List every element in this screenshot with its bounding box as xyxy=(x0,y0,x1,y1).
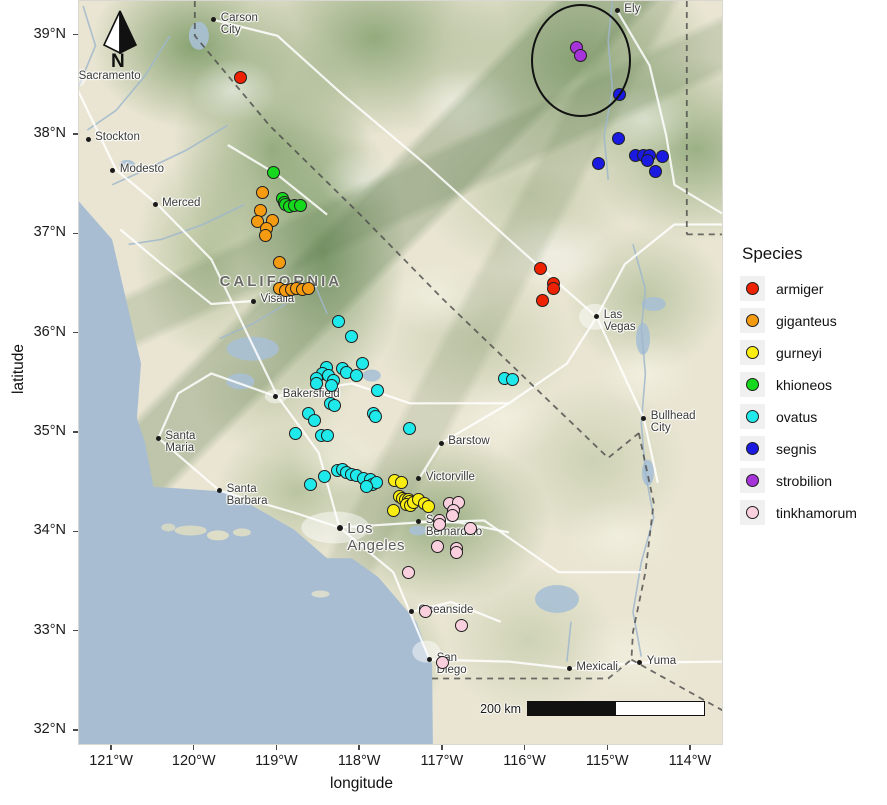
y-axis-tick-label: 39°N xyxy=(2,26,66,42)
scale-bar-segments xyxy=(527,701,705,716)
x-axis-tick-label: 117°W xyxy=(410,753,474,769)
city-name-text: Yuma xyxy=(647,655,676,667)
x-axis-tick-mark xyxy=(441,745,442,750)
legend-item-gurneyi[interactable]: gurneyi xyxy=(740,340,887,365)
city-marker-dot xyxy=(567,666,572,671)
occurrence-point-giganteus[interactable] xyxy=(259,229,272,242)
occurrence-point-ovatus[interactable] xyxy=(310,377,323,390)
legend-item-strobilion[interactable]: strobilion xyxy=(740,468,887,493)
legend-label-text: gurneyi xyxy=(776,345,822,361)
legend-label-text: armiger xyxy=(776,281,823,297)
y-axis-tick-mark xyxy=(73,431,78,432)
x-axis-title: longitude xyxy=(0,775,723,793)
x-axis-tick-mark xyxy=(276,745,277,750)
x-axis-tick-mark xyxy=(689,745,690,750)
city-marker-dot xyxy=(156,436,161,441)
y-axis-tick-mark xyxy=(73,630,78,631)
legend-swatch-ovatus xyxy=(746,410,759,423)
city-name-text: Modesto xyxy=(120,163,164,175)
highlight-ellipse-annotation xyxy=(531,4,631,117)
city-name-text: Sacramento xyxy=(79,70,141,82)
x-axis-tick-label: 115°W xyxy=(575,753,639,769)
scale-bar-segment-light xyxy=(616,702,704,715)
occurrence-point-tinkhamorum[interactable] xyxy=(433,518,446,531)
city-name-text: Victorville xyxy=(426,471,475,483)
x-axis-tick-mark xyxy=(358,745,359,750)
city-name-text: Barstow xyxy=(448,435,490,447)
legend: Species armigergiganteusgurneyikhioneoso… xyxy=(740,244,887,532)
city-name-text: Ely xyxy=(624,3,640,15)
legend-swatch-giganteus xyxy=(746,314,759,327)
occurrence-point-ovatus[interactable] xyxy=(325,379,338,392)
legend-key-box xyxy=(740,372,765,397)
occurrence-point-ovatus[interactable] xyxy=(308,414,321,427)
occurrence-point-giganteus[interactable] xyxy=(302,282,315,295)
occurrence-point-armiger[interactable] xyxy=(234,71,247,84)
legend-title: Species xyxy=(742,244,887,264)
legend-swatch-khioneos xyxy=(746,378,759,391)
legend-items[interactable]: armigergiganteusgurneyikhioneosovatusseg… xyxy=(740,276,887,525)
legend-label-text: khioneos xyxy=(776,377,832,393)
y-axis-tick-label: 34°N xyxy=(2,522,66,538)
y-axis-tick-label: 36°N xyxy=(2,324,66,340)
map-panel[interactable]: Carson CitySacramentoStocktonModestoMerc… xyxy=(78,0,723,745)
legend-key-box xyxy=(740,276,765,301)
legend-item-giganteus[interactable]: giganteus xyxy=(740,308,887,333)
legend-key-box xyxy=(740,500,765,525)
city-marker-dot xyxy=(439,441,444,446)
legend-key-box xyxy=(740,436,765,461)
legend-label-text: tinkhamorum xyxy=(776,505,857,521)
legend-item-armiger[interactable]: armiger xyxy=(740,276,887,301)
occurrence-point-ovatus[interactable] xyxy=(506,373,519,386)
y-axis-tick-label: 38°N xyxy=(2,125,66,141)
occurrence-point-ovatus[interactable] xyxy=(403,422,416,435)
x-axis-tick-label: 114°W xyxy=(658,753,722,769)
x-axis-tick-label: 116°W xyxy=(493,753,557,769)
species-distribution-figure: Carson CitySacramentoStocktonModestoMerc… xyxy=(0,0,887,805)
legend-label-text: ovatus xyxy=(776,409,817,425)
city-marker-dot xyxy=(337,525,343,531)
x-axis-tick-label: 119°W xyxy=(244,753,308,769)
legend-key-box xyxy=(740,468,765,493)
occurrence-point-gurneyi[interactable] xyxy=(387,504,400,517)
legend-item-tinkhamorum[interactable]: tinkhamorum xyxy=(740,500,887,525)
city-name-text: Mexicali xyxy=(576,661,618,673)
y-axis-tick-label: 35°N xyxy=(2,423,66,439)
occurrence-point-segnis[interactable] xyxy=(612,132,625,145)
y-axis-title: latitude xyxy=(10,344,28,394)
city-marker-dot xyxy=(86,137,91,142)
x-axis-tick-label: 120°W xyxy=(162,753,226,769)
scale-bar: 200 km xyxy=(480,701,705,716)
city-name-text: Stockton xyxy=(95,131,140,143)
occurrence-point-armiger[interactable] xyxy=(536,294,549,307)
y-axis-tick-mark xyxy=(73,729,78,730)
occurrence-point-ovatus[interactable] xyxy=(328,399,341,412)
y-axis-tick-mark xyxy=(73,531,78,532)
occurrence-point-armiger[interactable] xyxy=(534,262,547,275)
city-name-text: Las Vegas xyxy=(604,309,636,333)
legend-item-ovatus[interactable]: ovatus xyxy=(740,404,887,429)
y-axis-tick-mark xyxy=(73,133,78,134)
occurrence-point-ovatus[interactable] xyxy=(289,427,302,440)
scale-bar-label: 200 km xyxy=(480,702,521,716)
legend-swatch-segnis xyxy=(746,442,759,455)
scale-bar-segment-dark xyxy=(528,702,616,715)
x-axis-tick-mark xyxy=(193,745,194,750)
city-marker-dot xyxy=(251,299,256,304)
city-name-text: Los Angeles xyxy=(347,520,405,554)
occurrence-point-segnis[interactable] xyxy=(656,150,669,163)
y-axis-tick-mark xyxy=(73,34,78,35)
y-axis-tick-label: 32°N xyxy=(2,721,66,737)
occurrence-point-ovatus[interactable] xyxy=(350,369,363,382)
city-name-text: Merced xyxy=(162,197,200,209)
city-name-text: Santa Maria xyxy=(165,430,195,454)
city-name-text: Carson City xyxy=(221,12,258,36)
occurrence-point-ovatus[interactable] xyxy=(369,410,382,423)
legend-key-box xyxy=(740,308,765,333)
x-axis-tick-label: 121°W xyxy=(79,753,143,769)
legend-label-text: giganteus xyxy=(776,313,837,329)
y-axis-tick-label: 37°N xyxy=(2,224,66,240)
legend-swatch-armiger xyxy=(746,282,759,295)
legend-key-box xyxy=(740,340,765,365)
city-name-text: Bullhead City xyxy=(651,410,696,434)
occurrence-point-ovatus[interactable] xyxy=(321,429,334,442)
x-axis-tick-mark xyxy=(607,745,608,750)
x-axis-tick-mark xyxy=(110,745,111,750)
occurrence-point-tinkhamorum[interactable] xyxy=(450,546,463,559)
legend-label-text: segnis xyxy=(776,441,816,457)
legend-item-khioneos[interactable]: khioneos xyxy=(740,372,887,397)
legend-label-text: strobilion xyxy=(776,473,832,489)
legend-item-segnis[interactable]: segnis xyxy=(740,436,887,461)
x-axis-tick-mark xyxy=(524,745,525,750)
y-axis-tick-mark xyxy=(73,233,78,234)
legend-swatch-gurneyi xyxy=(746,346,759,359)
city-name-text: Santa Barbara xyxy=(227,483,268,507)
x-axis-tick-label: 118°W xyxy=(327,753,391,769)
legend-key-box xyxy=(740,404,765,429)
legend-swatch-strobilion xyxy=(746,474,759,487)
north-arrow-icon: N xyxy=(99,9,141,71)
occurrence-point-armiger[interactable] xyxy=(547,282,560,295)
occurrence-point-tinkhamorum[interactable] xyxy=(464,522,477,535)
y-axis-tick-label: 33°N xyxy=(2,622,66,638)
city-marker-dot xyxy=(153,202,158,207)
north-arrow-label: N xyxy=(111,51,125,73)
occurrence-point-giganteus[interactable] xyxy=(273,256,286,269)
occurrence-point-ovatus[interactable] xyxy=(371,384,384,397)
legend-swatch-tinkhamorum xyxy=(746,506,759,519)
y-axis-tick-mark xyxy=(73,332,78,333)
